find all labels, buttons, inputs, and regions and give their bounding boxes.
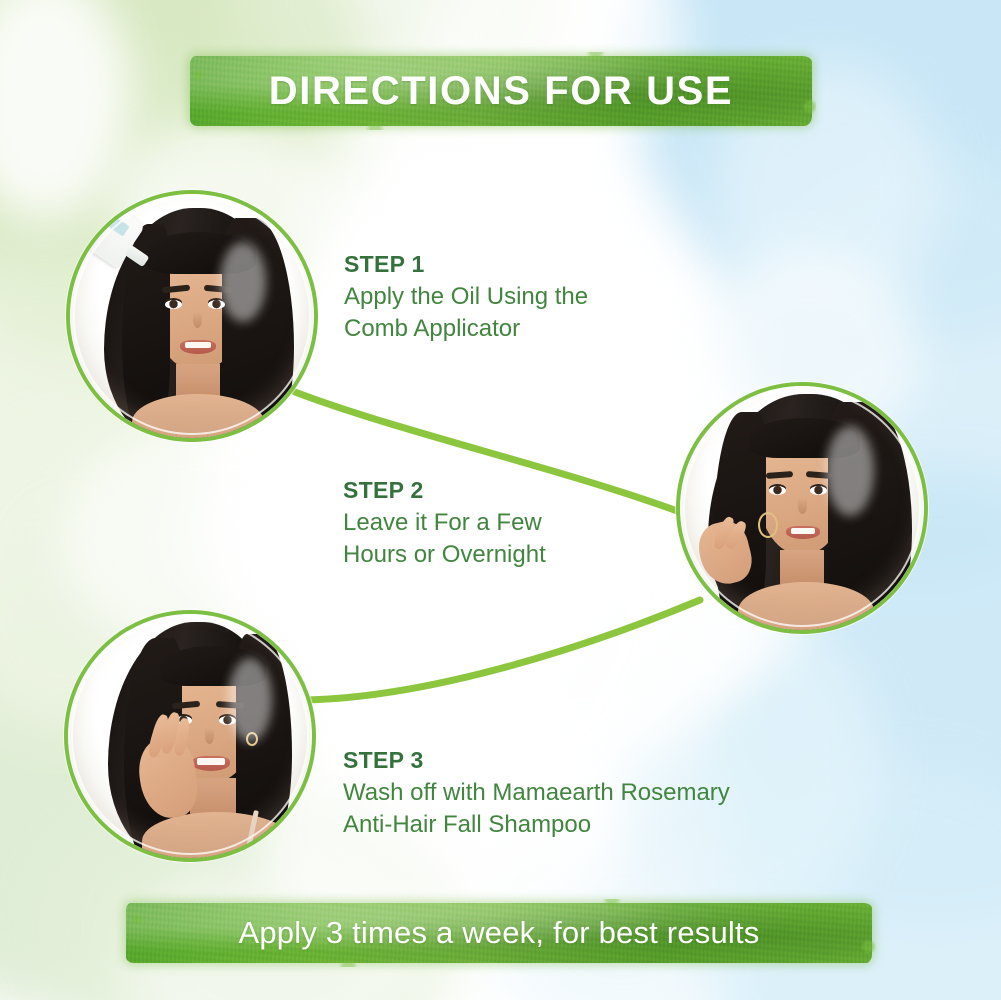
- step-3-label: STEP 3: [343, 746, 883, 775]
- step-2-photo-circle[interactable]: [676, 382, 928, 634]
- step-1-label: STEP 1: [344, 250, 704, 279]
- step-2-description: Leave it For a Few Hours or Overnight: [343, 507, 673, 571]
- eye-left: [769, 486, 786, 495]
- step-1-description: Apply the Oil Using the Comb Applicator: [344, 281, 704, 345]
- photo-shine: [220, 242, 266, 322]
- step-3-text: STEP 3 Wash off with Mamaearth Rosemary …: [343, 746, 883, 841]
- portrait-illustration: [680, 386, 924, 630]
- eye-right: [810, 486, 827, 495]
- photo-shine: [826, 426, 874, 516]
- earring: [758, 512, 778, 538]
- step-1-photo: [70, 194, 314, 438]
- step-1-text: STEP 1 Apply the Oil Using the Comb Appl…: [344, 250, 704, 345]
- step-2-text: STEP 2 Leave it For a Few Hours or Overn…: [343, 476, 673, 571]
- footer-banner: Apply 3 times a week, for best results: [126, 903, 872, 963]
- connector-step3-step2: [296, 600, 700, 700]
- teeth: [185, 342, 211, 348]
- step-2-label: STEP 2: [343, 476, 673, 505]
- footer-note: Apply 3 times a week, for best results: [238, 915, 759, 951]
- step-3-photo-circle[interactable]: [64, 610, 316, 862]
- step-3-description: Wash off with Mamaearth Rosemary Anti-Ha…: [343, 777, 883, 841]
- nose: [205, 728, 214, 744]
- photo-shine: [228, 658, 272, 742]
- step-3-description-line: Anti-Hair Fall Shampoo: [343, 809, 883, 841]
- infographic-canvas: DIRECTIONS FOR USE: [0, 0, 1001, 1000]
- teeth: [197, 758, 225, 765]
- step-1-description-line: Comb Applicator: [344, 313, 704, 345]
- page-title: DIRECTIONS FOR USE: [269, 69, 733, 114]
- step-2-description-line: Leave it For a Few: [343, 507, 673, 539]
- step-2-description-line: Hours or Overnight: [343, 539, 673, 571]
- nose: [193, 312, 202, 328]
- teeth: [791, 528, 815, 534]
- paper-highlight: [0, 0, 130, 220]
- step-2-photo: [680, 386, 924, 630]
- step-3-description-line: Wash off with Mamaearth Rosemary: [343, 777, 883, 809]
- neck: [176, 364, 220, 398]
- step-3-photo: [68, 614, 312, 858]
- neck: [780, 550, 824, 584]
- title-banner: DIRECTIONS FOR USE: [190, 56, 812, 126]
- eye-left: [165, 300, 182, 309]
- nose: [798, 498, 807, 514]
- portrait-illustration: [70, 194, 314, 438]
- step-1-photo-circle[interactable]: [66, 190, 318, 442]
- step-1-description-line: Apply the Oil Using the: [344, 281, 704, 313]
- portrait-illustration: [68, 614, 312, 858]
